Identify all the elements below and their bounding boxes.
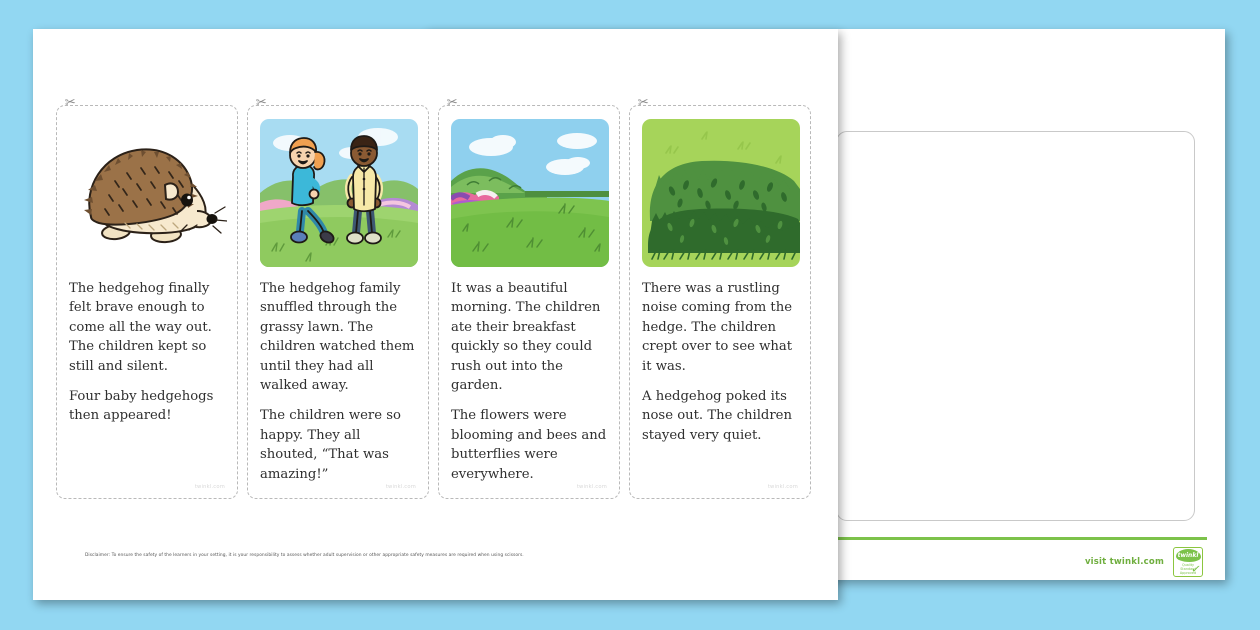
disclaimer-text: Disclaimer: To ensure the safety of the … (85, 553, 524, 558)
scissors-icon: ✂ (64, 94, 82, 112)
twinkl-logo-badge: twinkl Quality Standard Approved ✓ (1173, 547, 1203, 577)
two-children-in-garden-illustration (260, 119, 418, 267)
card-4-watermark: twinkl.com (768, 484, 798, 490)
card-4-paragraph-2: A hedgehog poked its nose out. The child… (642, 387, 798, 445)
card-4-paragraph-1: There was a rustling noise coming from t… (642, 279, 798, 376)
sequencing-card-2[interactable]: ✂ (247, 105, 429, 499)
card-3-watermark: twinkl.com (577, 484, 607, 490)
scissors-icon: ✂ (637, 94, 655, 112)
card-3-paragraph-2: The flowers were blooming and bees and b… (451, 406, 607, 484)
scissors-icon: ✂ (255, 94, 273, 112)
card-1-paragraph-2: Four baby hedgehogs then appeared! (69, 387, 225, 426)
check-mark-icon: ✓ (1190, 561, 1202, 576)
twinkl-wordmark: twinkl (1178, 552, 1199, 559)
card-2-paragraph-2: The children were so happy. They all sho… (260, 406, 416, 484)
sunny-garden-landscape-illustration (451, 119, 609, 267)
card-2-text: The hedgehog family snuffled through the… (260, 279, 416, 484)
sequencing-card-3[interactable]: ✂ (438, 105, 620, 499)
card-1-paragraph-1: The hedgehog finally felt brave enough t… (69, 279, 225, 376)
answer-box-2[interactable] (836, 131, 1195, 521)
sequencing-cards-row: ✂ (56, 105, 811, 499)
visit-twinkl-link[interactable]: visit twinkl.com (1085, 557, 1164, 567)
twinkl-blob-icon: twinkl (1176, 549, 1201, 562)
sequencing-card-4[interactable]: ✂ (629, 105, 811, 499)
card-1-watermark: twinkl.com (195, 484, 225, 490)
front-page: ✂ (33, 29, 838, 600)
card-3-text: It was a beautiful morning. The children… (451, 279, 607, 484)
card-3-paragraph-1: It was a beautiful morning. The children… (451, 279, 607, 395)
hedge-illustration (642, 119, 800, 267)
footer: visit twinkl.com twinkl Quality Standard… (1085, 547, 1203, 577)
sequencing-card-1[interactable]: ✂ (56, 105, 238, 499)
card-1-text: The hedgehog finally felt brave enough t… (69, 279, 225, 426)
card-2-paragraph-1: The hedgehog family snuffled through the… (260, 279, 416, 395)
card-4-text: There was a rustling noise coming from t… (642, 279, 798, 445)
card-2-watermark: twinkl.com (386, 484, 416, 490)
hedgehog-illustration (69, 119, 227, 267)
screenshot-stage: ry Sequencing ction and stick it down in… (0, 0, 1260, 630)
scissors-icon: ✂ (446, 94, 464, 112)
